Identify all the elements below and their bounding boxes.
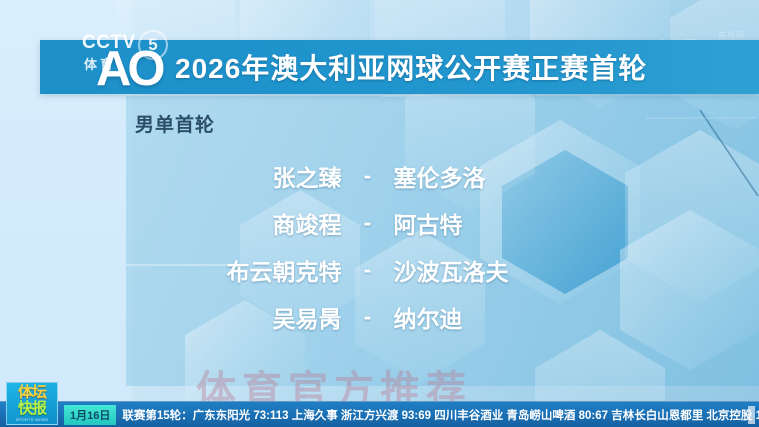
player-a-name: 吴易昺 <box>167 300 342 334</box>
section-title: 男单首轮 <box>135 110 215 137</box>
versus-separator: - <box>342 303 394 330</box>
broadcast-screen: 央视网 CCTV.com 2026年澳大利亚网球公开赛正赛首轮 CCTV 5 体… <box>0 0 759 427</box>
ticker-program-logo: 体坛 快报 SPORTS NEWS <box>6 382 58 425</box>
ticker-logo-line-1: 体坛 <box>18 385 46 401</box>
news-ticker-bar: 1月16日 联赛第15轮：广东东阳光 73:113 上海久事 浙江方兴渡 93:… <box>0 401 759 427</box>
versus-separator: - <box>342 209 394 236</box>
versus-separator: - <box>342 162 394 189</box>
player-b-name: 沙波瓦洛夫 <box>394 253 614 287</box>
match-row: 布云朝克特 - 沙波瓦洛夫 <box>150 246 630 293</box>
player-b-name: 塞伦多洛 <box>394 159 614 193</box>
ticker-logo-line-2: 快报 <box>18 401 46 417</box>
ticker-end-marker <box>748 406 755 424</box>
ticker-date-badge: 1月16日 <box>64 405 116 425</box>
ticker-logo-line-3: SPORTS NEWS <box>16 418 49 422</box>
ticker-scrolling-text: 联赛第15轮：广东东阳光 73:113 上海久事 浙江方兴渡 93:69 四川丰… <box>122 407 759 423</box>
match-row: 商竣程 - 阿古特 <box>150 199 630 246</box>
page-title: 2026年澳大利亚网球公开赛正赛首轮 <box>175 47 647 87</box>
title-bar: 2026年澳大利亚网球公开赛正赛首轮 <box>40 40 759 94</box>
player-a-name: 张之臻 <box>167 159 342 193</box>
player-a-name: 商竣程 <box>167 206 342 240</box>
match-list: 张之臻 - 塞伦多洛 商竣程 - 阿古特 布云朝克特 - 沙波瓦洛夫 吴易昺 -… <box>150 152 630 340</box>
player-b-name: 阿古特 <box>394 206 614 240</box>
player-b-name: 纳尔迪 <box>394 300 614 334</box>
player-a-name: 布云朝克特 <box>167 253 342 287</box>
versus-separator: - <box>342 256 394 283</box>
match-row: 张之臻 - 塞伦多洛 <box>150 152 630 199</box>
match-row: 吴易昺 - 纳尔迪 <box>150 293 630 340</box>
